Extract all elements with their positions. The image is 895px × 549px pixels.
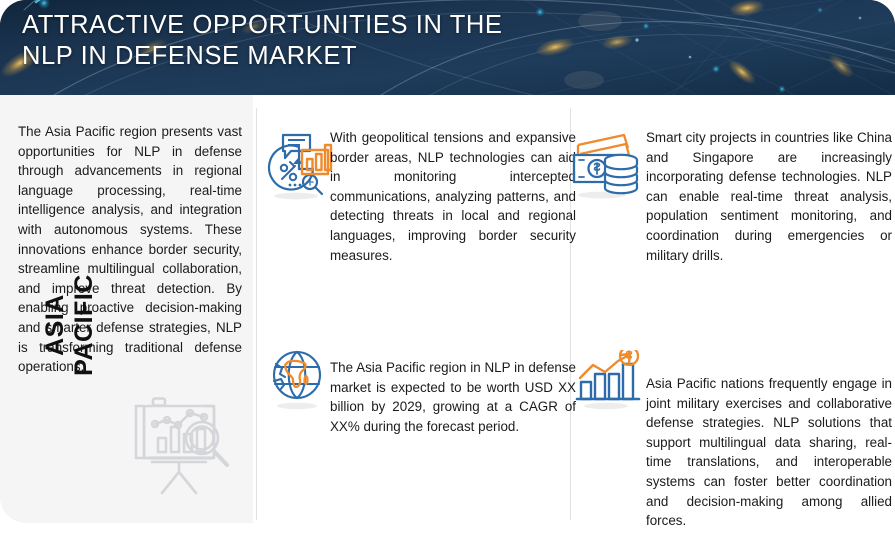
- cell-right-top-text: Smart city projects in countries like Ch…: [646, 128, 892, 265]
- globe-icon: [266, 348, 328, 410]
- presentation-board-analytics-icon: [128, 396, 236, 500]
- cell-right-bottom-text: Asia Pacific nations frequently engage i…: [646, 374, 892, 531]
- data-analytics-search-icon: [266, 128, 334, 200]
- money-banknote-coins-icon: [566, 128, 642, 200]
- divider-left-middle: [256, 108, 257, 520]
- page-title: ATTRACTIVE OPPORTUNITIES IN THE NLP IN D…: [22, 10, 662, 72]
- cell-middle-bottom-text: The Asia Pacific region in NLP in defens…: [330, 358, 576, 436]
- slide-root: ATTRACTIVE OPPORTUNITIES IN THE NLP IN D…: [0, 0, 895, 549]
- cell-middle-top-text: With geopolitical tensions and expansive…: [330, 128, 576, 265]
- header-banner: ATTRACTIVE OPPORTUNITIES IN THE NLP IN D…: [0, 0, 895, 95]
- region-label-asia-pacific: ASIA PACIFIC: [41, 250, 99, 400]
- growth-bar-chart-dollar-icon: [572, 350, 642, 412]
